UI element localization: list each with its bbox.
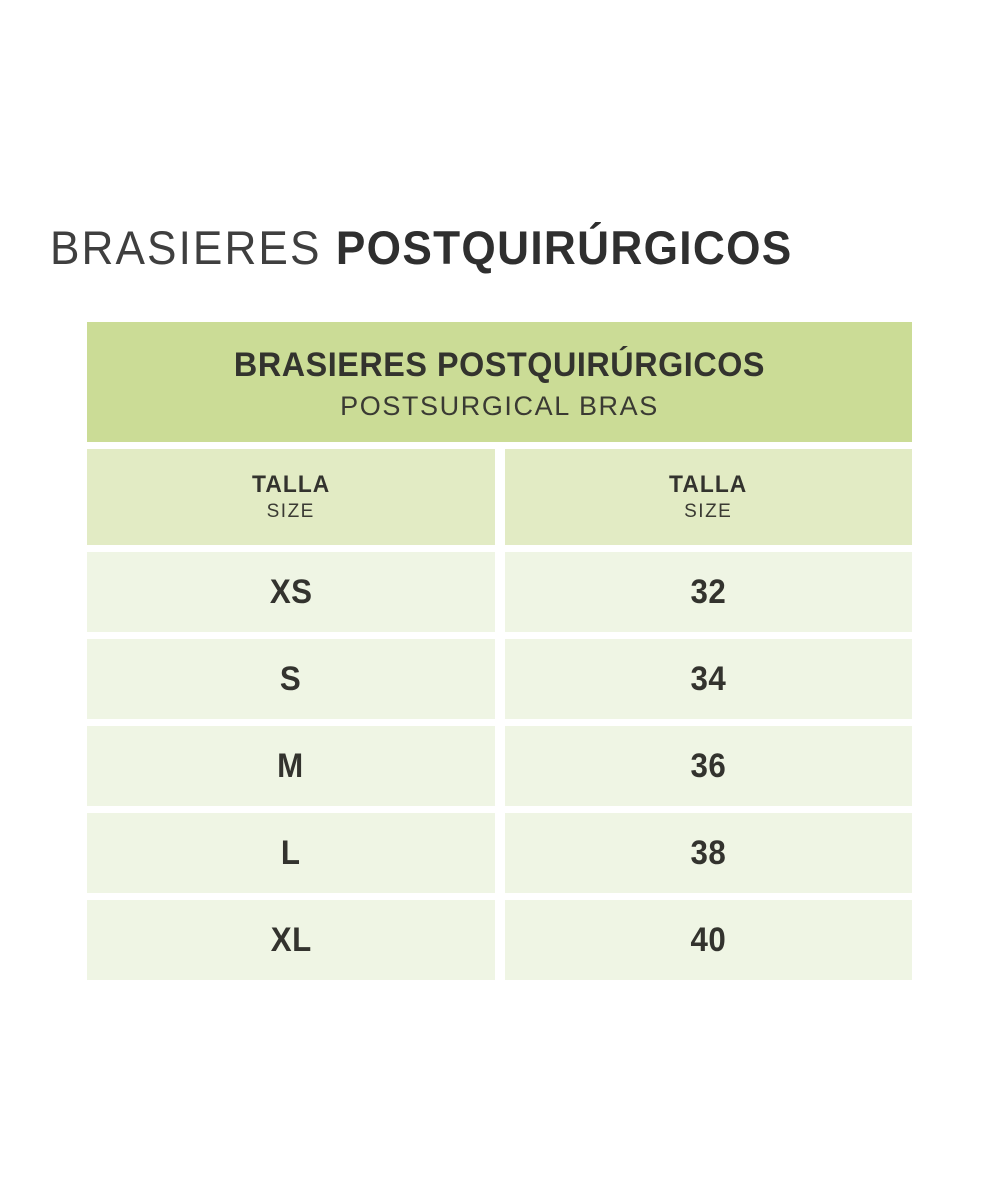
cell-numeric-size: 38 <box>505 813 913 893</box>
table-header-row: TALLA SIZE TALLA SIZE <box>87 449 912 545</box>
cell-numeric-size: 36 <box>505 726 913 806</box>
size-value: 36 <box>690 747 726 786</box>
table-row: L 38 <box>87 813 912 893</box>
table-row: XL 40 <box>87 900 912 980</box>
size-value: XS <box>269 573 312 612</box>
column-header-label-en: SIZE <box>684 500 732 524</box>
table-row: M 36 <box>87 726 912 806</box>
cell-letter-size: XS <box>87 552 495 632</box>
cell-letter-size: L <box>87 813 495 893</box>
page-title-light-part: BRASIERES <box>50 221 322 274</box>
size-value: XL <box>270 921 311 960</box>
size-value: 40 <box>690 921 726 960</box>
size-value: M <box>277 747 304 786</box>
cell-letter-size: S <box>87 639 495 719</box>
table-banner-title-es: BRASIERES POSTQUIRÚRGICOS <box>108 344 892 386</box>
table-banner-title-en: POSTSURGICAL BRAS <box>87 388 912 424</box>
size-value: 32 <box>690 573 726 612</box>
cell-letter-size: M <box>87 726 495 806</box>
size-value: 34 <box>690 660 726 699</box>
column-header-size-letter: TALLA SIZE <box>87 449 495 545</box>
table-row: XS 32 <box>87 552 912 632</box>
page-title-bold-part: POSTQUIRÚRGICOS <box>336 221 793 274</box>
size-chart-table: BRASIERES POSTQUIRÚRGICOS POSTSURGICAL B… <box>87 322 912 980</box>
size-value: 38 <box>690 834 726 873</box>
column-header-label-es: TALLA <box>669 471 747 499</box>
page-title: BRASIERES POSTQUIRÚRGICOS <box>50 219 907 277</box>
column-header-size-numeric: TALLA SIZE <box>505 449 913 545</box>
cell-numeric-size: 34 <box>505 639 913 719</box>
table-row: S 34 <box>87 639 912 719</box>
cell-letter-size: XL <box>87 900 495 980</box>
cell-numeric-size: 32 <box>505 552 913 632</box>
table-banner: BRASIERES POSTQUIRÚRGICOS POSTSURGICAL B… <box>87 322 912 442</box>
cell-numeric-size: 40 <box>505 900 913 980</box>
column-header-label-en: SIZE <box>267 500 315 524</box>
column-header-label-es: TALLA <box>252 471 330 499</box>
size-value: L <box>281 834 301 873</box>
size-value: S <box>280 660 301 699</box>
